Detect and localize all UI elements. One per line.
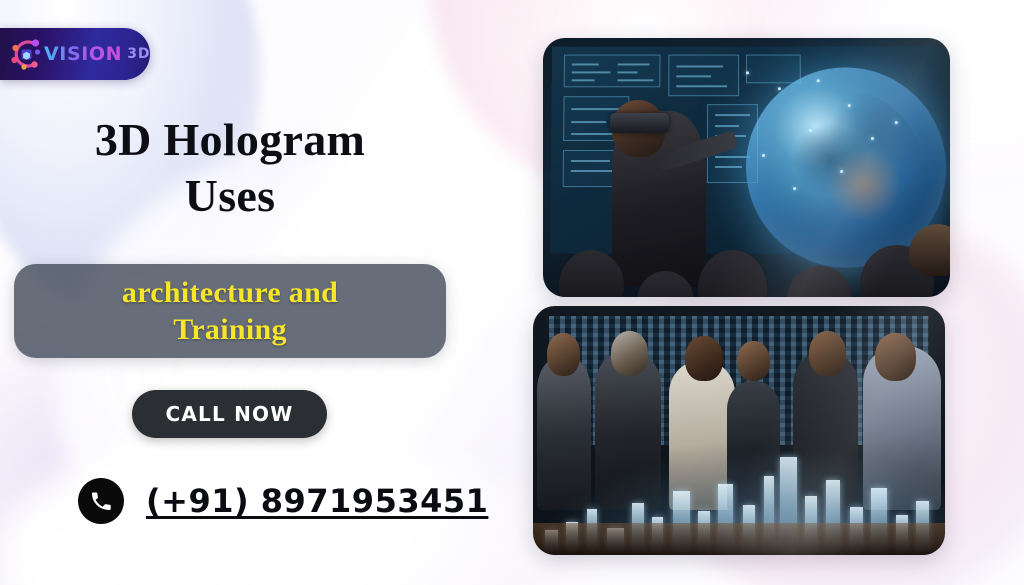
subtitle-line-2: Training [122,311,338,349]
vr-headset-icon [610,113,669,132]
logo-3d-suffix: 3D [127,46,150,62]
vr-display-screen [550,46,943,253]
architecture-scene [533,306,945,555]
phone-handset-icon[interactable] [78,478,124,524]
table-surface [533,523,945,555]
headline-line-1: 3D Hologram [30,112,430,168]
call-now-button-label: CALL NOW [165,402,293,426]
logo-wordmark: VISION [44,43,122,65]
headline-line-2: Uses [30,168,430,224]
phone-number-text[interactable]: (+91) 8971953451 [146,482,488,520]
page-title: 3D Hologram Uses [30,112,430,224]
subtitle-line-1: architecture and [122,274,338,312]
vr-scene [543,38,950,297]
contact-phone-row[interactable]: (+91) 8971953451 [78,478,488,524]
subtitle-banner-text: architecture and Training [122,274,338,349]
call-now-button[interactable]: CALL NOW [132,390,327,438]
architecture-hologram-meeting-image [533,306,945,555]
subtitle-banner: architecture and Training [14,264,446,358]
vr-hologram-presentation-image [543,38,950,297]
brand-logo[interactable]: VISION 3D [0,28,150,80]
molecule-atom-icon [6,34,46,74]
